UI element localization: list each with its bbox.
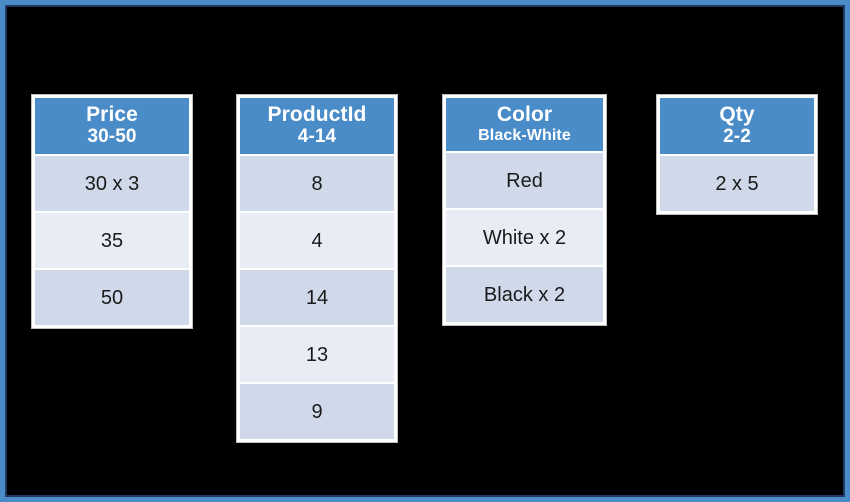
table-productid-subtitle: 4-14 bbox=[244, 127, 390, 148]
table-row[interactable]: 13 bbox=[240, 325, 394, 382]
table-row[interactable]: 35 bbox=[35, 211, 189, 268]
table-color-header: Color Black-White bbox=[446, 98, 603, 151]
table-productid-header: ProductId 4-14 bbox=[240, 98, 394, 154]
table-price-header: Price 30-50 bbox=[35, 98, 189, 154]
table-productid[interactable]: ProductId 4-14 8 4 14 13 9 bbox=[237, 95, 397, 442]
table-price-title: Price bbox=[39, 104, 185, 127]
table-row[interactable]: 2 x 5 bbox=[660, 154, 814, 211]
tables-layer: Price 30-50 30 x 3 35 50 ProductId 4-14 … bbox=[7, 7, 847, 499]
table-productid-title: ProductId bbox=[244, 104, 390, 127]
table-row[interactable]: 8 bbox=[240, 154, 394, 211]
table-row[interactable]: White x 2 bbox=[446, 208, 603, 265]
table-qty-subtitle: 2-2 bbox=[664, 127, 810, 148]
table-color-subtitle: Black-White bbox=[450, 127, 599, 144]
table-qty-title: Qty bbox=[664, 104, 810, 127]
table-qty-header: Qty 2-2 bbox=[660, 98, 814, 154]
slide-inner-frame: Price 30-50 30 x 3 35 50 ProductId 4-14 … bbox=[5, 5, 845, 497]
table-qty[interactable]: Qty 2-2 2 x 5 bbox=[657, 95, 817, 214]
table-color-title: Color bbox=[450, 104, 599, 127]
table-row[interactable]: 50 bbox=[35, 268, 189, 325]
table-row[interactable]: 9 bbox=[240, 382, 394, 439]
table-row[interactable]: Black x 2 bbox=[446, 265, 603, 322]
table-row[interactable]: Red bbox=[446, 151, 603, 208]
table-color[interactable]: Color Black-White Red White x 2 Black x … bbox=[443, 95, 606, 325]
table-row[interactable]: 14 bbox=[240, 268, 394, 325]
table-row[interactable]: 4 bbox=[240, 211, 394, 268]
table-price[interactable]: Price 30-50 30 x 3 35 50 bbox=[32, 95, 192, 328]
table-price-subtitle: 30-50 bbox=[39, 127, 185, 148]
table-row[interactable]: 30 x 3 bbox=[35, 154, 189, 211]
slide-canvas: Price 30-50 30 x 3 35 50 ProductId 4-14 … bbox=[0, 0, 850, 502]
